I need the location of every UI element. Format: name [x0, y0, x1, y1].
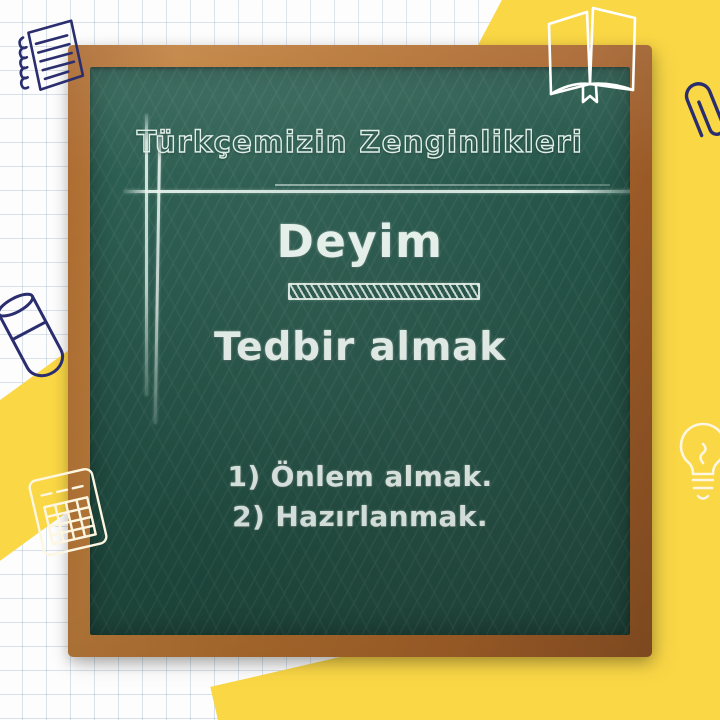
- meaning-item-1: 1) Önlem almak.: [90, 457, 630, 497]
- chalkboard-frame: Türkçemizin Zenginlikleri Deyim Tedbir a…: [68, 45, 652, 657]
- title-vertical-rule-inner: [154, 132, 162, 424]
- notebook-icon: [9, 13, 91, 100]
- section-underline-bar: [288, 283, 480, 300]
- open-book-icon: [543, 2, 641, 102]
- title-horizontal-rule: [124, 190, 630, 193]
- meaning-list: 1) Önlem almak. 2) Hazırlanmak.: [90, 457, 630, 537]
- idiom-text: Tedbir almak: [90, 325, 630, 370]
- title-horizontal-rule-thin: [275, 184, 610, 186]
- section-label: Deyim: [90, 215, 630, 268]
- chalkboard-surface: Türkçemizin Zenginlikleri Deyim Tedbir a…: [90, 67, 630, 635]
- slide-canvas: Türkçemizin Zenginlikleri Deyim Tedbir a…: [0, 0, 720, 720]
- page-title: Türkçemizin Zenginlikleri: [90, 125, 630, 159]
- meaning-item-2: 2) Hazırlanmak.: [90, 497, 630, 537]
- lightbulb-icon: [672, 418, 720, 506]
